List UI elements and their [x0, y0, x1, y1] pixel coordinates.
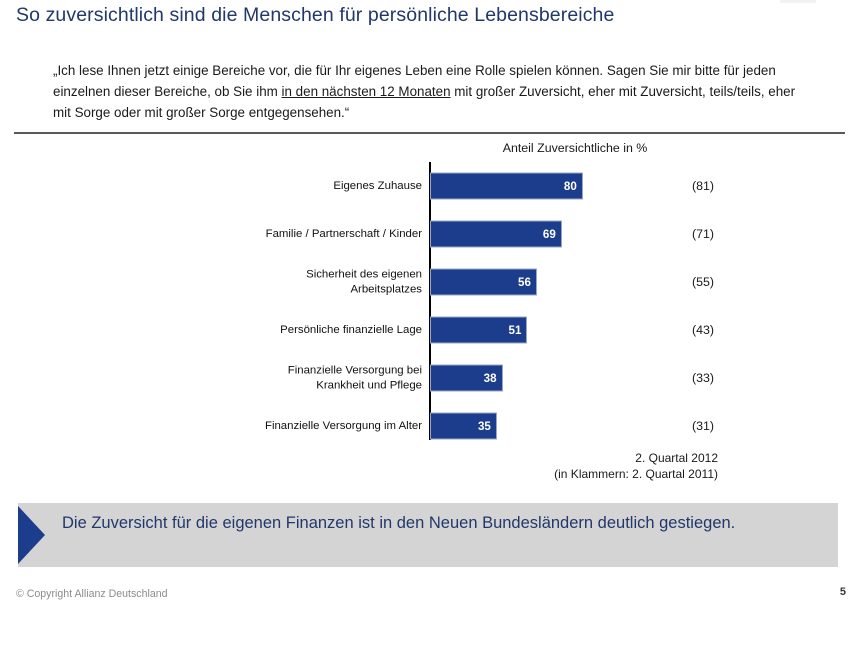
chart-row-label-line: Finanzielle Versorgung im Alter — [162, 419, 422, 434]
chart-value-axis-title: Anteil Zuversichtliche in % — [430, 141, 720, 155]
corner-mark — [780, 0, 816, 3]
chart-row-label: Finanzielle Versorgung beiKrankheit und … — [162, 364, 422, 393]
chart-bar-wrapper: 80 — [430, 173, 583, 200]
chart-bar-value: 38 — [484, 372, 497, 385]
chart-previous-year-value: (31) — [673, 419, 733, 433]
chart-row-label: Finanzielle Versorgung im Alter — [162, 419, 422, 434]
bar-chart: Anteil Zuversichtliche in % Eigenes Zuha… — [0, 132, 858, 492]
chart-bar-value: 69 — [543, 228, 556, 241]
chart-row-label-line: Familie / Partnerschaft / Kinder — [162, 227, 422, 242]
chart-bar-wrapper: 56 — [430, 269, 537, 296]
page-title: So zuversichtlich sind die Menschen für … — [16, 2, 614, 28]
chart-previous-year-value: (55) — [673, 275, 733, 289]
chart-row-label-line: Persönliche finanzielle Lage — [162, 323, 422, 338]
chart-bar-wrapper: 51 — [430, 317, 527, 344]
callout-box: Die Zuversicht für die eigenen Finanzen … — [18, 503, 838, 567]
chart-row-label-line: Arbeitsplatzes — [162, 282, 422, 297]
chart-bar: 69 — [430, 221, 562, 248]
question-underlined-phrase: in den nächsten 12 Monaten — [282, 84, 451, 99]
chart-row: Persönliche finanzielle Lage51(43) — [0, 306, 858, 354]
chart-previous-year-value: (43) — [673, 323, 733, 337]
chart-bar-value: 35 — [478, 420, 491, 433]
chart-row-label-line: Eigenes Zuhause — [162, 179, 422, 194]
chart-bar-wrapper: 38 — [430, 365, 503, 392]
chart-previous-year-value: (71) — [673, 227, 733, 241]
chart-bar-value: 80 — [564, 180, 577, 193]
chart-row: Eigenes Zuhause80(81) — [0, 162, 858, 210]
chart-row-label: Sicherheit des eigenenArbeitsplatzes — [162, 268, 422, 297]
arrow-right-icon — [18, 506, 45, 564]
chart-footnote-line-2: (in Klammern: 2. Quartal 2011) — [418, 466, 718, 482]
survey-question-text: „Ich lese Ihnen jetzt einige Bereiche vo… — [53, 60, 813, 123]
chart-row-label: Eigenes Zuhause — [162, 179, 422, 194]
chart-row-label-line: Finanzielle Versorgung bei — [162, 364, 422, 379]
footer-page-number: 5 — [826, 586, 846, 598]
chart-previous-year-value: (33) — [673, 371, 733, 385]
chart-footnote: 2. Quartal 2012 (in Klammern: 2. Quartal… — [418, 450, 718, 482]
chart-row: Finanzielle Versorgung im Alter35(31) — [0, 402, 858, 450]
chart-previous-year-value: (81) — [673, 179, 733, 193]
chart-bar: 80 — [430, 173, 583, 200]
chart-bar: 38 — [430, 365, 503, 392]
chart-rows: Eigenes Zuhause80(81)Familie / Partnersc… — [0, 162, 858, 450]
slide: So zuversichtlich sind die Menschen für … — [0, 0, 858, 646]
chart-row: Familie / Partnerschaft / Kinder69(71) — [0, 210, 858, 258]
chart-bar-wrapper: 35 — [430, 413, 497, 440]
chart-row-label: Familie / Partnerschaft / Kinder — [162, 227, 422, 242]
footer-copyright: © Copyright Allianz Deutschland — [16, 588, 168, 600]
callout-text: Die Zuversicht für die eigenen Finanzen … — [62, 511, 822, 536]
chart-bar-value: 51 — [509, 324, 522, 337]
chart-bar-wrapper: 69 — [430, 221, 562, 248]
chart-bar: 35 — [430, 413, 497, 440]
chart-row-label-line: Krankheit und Pflege — [162, 378, 422, 393]
chart-bar-value: 56 — [518, 276, 531, 289]
chart-bar: 51 — [430, 317, 527, 344]
chart-row: Sicherheit des eigenenArbeitsplatzes56(5… — [0, 258, 858, 306]
chart-footnote-line-1: 2. Quartal 2012 — [418, 450, 718, 466]
chart-row-label-line: Sicherheit des eigenen — [162, 268, 422, 283]
chart-bar: 56 — [430, 269, 537, 296]
chart-row-label: Persönliche finanzielle Lage — [162, 323, 422, 338]
chart-row: Finanzielle Versorgung beiKrankheit und … — [0, 354, 858, 402]
